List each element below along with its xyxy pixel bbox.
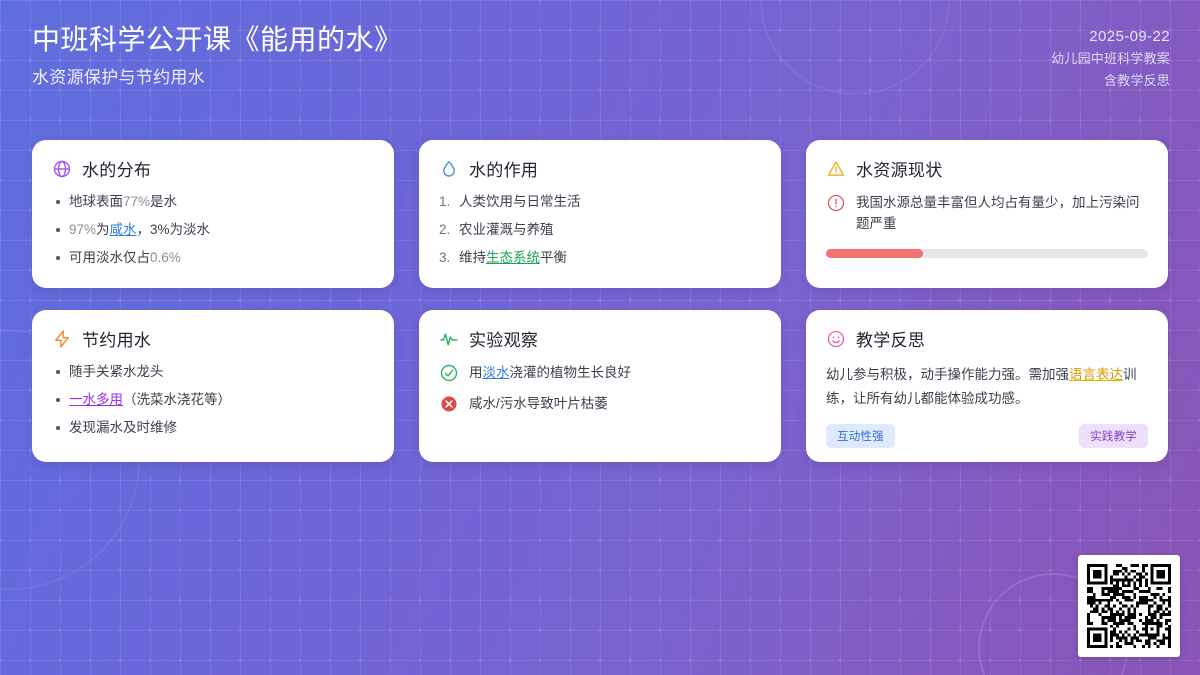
header-meta-line-1: 幼儿园中班科学教案: [1051, 48, 1170, 67]
card-header: 水资源现状: [826, 156, 1148, 181]
item-text: 发现漏水及时维修: [69, 420, 177, 435]
card-teaching-reflection: 教学反思 幼儿参与积极，动手操作能力强。需加强语言表达训练，让所有幼儿都能体验成…: [806, 310, 1168, 462]
experiment-results: 用淡水浇灌的植物生长良好 咸水/污水导致叶片枯萎: [439, 363, 761, 414]
link-freshwater[interactable]: 淡水: [483, 365, 510, 380]
item-number: 77%: [123, 194, 150, 209]
card-title: 水资源现状: [856, 156, 943, 181]
item-text: 维持: [459, 250, 486, 265]
card-grid: 水的分布 地球表面77%是水 97%为咸水，3%为淡水 可用淡水仅占0.6%: [32, 140, 1168, 462]
list-item: 地球表面77%是水: [52, 193, 374, 211]
item-number: 0.6%: [150, 250, 181, 265]
header-meta-block: 2025-09-22 幼儿园中班科学教案 含教学反思: [1051, 24, 1170, 89]
activity-pulse-icon: [439, 329, 459, 349]
x-circle-icon: [439, 394, 459, 414]
reflection-text-before: 幼儿参与积极，动手操作能力强。需加强: [826, 367, 1069, 382]
page-title: 中班科学公开课《能用的水》: [32, 24, 403, 56]
reflection-text: 幼儿参与积极，动手操作能力强。需加强语言表达训练，让所有幼儿都能体验成功感。: [826, 363, 1148, 418]
lightning-bolt-icon: [52, 329, 72, 349]
card-water-function: 水的作用 1.人类饮用与日常生活 2.农业灌溉与养殖 3.维持生态系统平衡: [419, 140, 781, 288]
link-language-expression[interactable]: 语言表达: [1069, 367, 1123, 382]
result-text: 咸水/污水导致叶片枯萎: [469, 395, 608, 413]
card-water-saving: 节约用水 随手关紧水龙头 一水多用（洗菜水浇花等） 发现漏水及时维修: [32, 310, 394, 462]
item-text-tail: 是水: [150, 194, 177, 209]
header-date: 2025-09-22: [1089, 28, 1170, 45]
item-text-tail: ，3%为淡水: [137, 222, 211, 237]
link-multi-use-water[interactable]: 一水多用: [69, 392, 123, 407]
alert-circle-icon: [826, 193, 846, 213]
page-subtitle: 水资源保护与节约用水: [32, 63, 403, 88]
result-row-positive: 用淡水浇灌的植物生长良好: [439, 363, 761, 383]
result-text-before: 用: [469, 365, 483, 380]
qr-code-container[interactable]: [1078, 555, 1180, 657]
card-water-status: 水资源现状 我国水源总量丰富但人均占有量少，加上污染问题严重: [806, 140, 1168, 288]
list-item: 3.维持生态系统平衡: [439, 249, 761, 267]
tag-practice-teaching[interactable]: 实践教学: [1079, 424, 1148, 448]
list-item: 1.人类饮用与日常生活: [439, 193, 761, 211]
card-title: 实验观察: [469, 326, 538, 351]
item-text: 随手关紧水龙头: [69, 364, 164, 379]
item-index: 3.: [439, 249, 450, 267]
item-text: 可用淡水仅占: [69, 250, 150, 265]
list-item: 97%为咸水，3%为淡水: [52, 221, 374, 239]
slide-header: 中班科学公开课《能用的水》 水资源保护与节约用水 2025-09-22 幼儿园中…: [0, 0, 1200, 120]
card-header: 水的分布: [52, 156, 374, 181]
smiley-icon: [826, 329, 846, 349]
link-saltwater[interactable]: 咸水: [110, 222, 137, 237]
item-number: 97%: [69, 222, 96, 237]
reflection-tags: 互动性强 实践教学: [826, 424, 1148, 448]
saving-list: 随手关紧水龙头 一水多用（洗菜水浇花等） 发现漏水及时维修: [52, 363, 374, 438]
card-header: 节约用水: [52, 326, 374, 351]
item-text-tail: （洗菜水浇花等）: [123, 392, 231, 407]
tag-interactivity[interactable]: 互动性强: [826, 424, 895, 448]
item-text-tail: 平衡: [540, 250, 567, 265]
status-alert-text: 我国水源总量丰富但人均占有量少，加上污染问题严重: [856, 193, 1148, 235]
result-text-after: 浇灌的植物生长良好: [510, 365, 632, 380]
slide-canvas: 中班科学公开课《能用的水》 水资源保护与节约用水 2025-09-22 幼儿园中…: [0, 0, 1200, 675]
item-text: 农业灌溉与养殖: [459, 222, 554, 237]
status-progress-fill: [826, 249, 923, 258]
card-header: 实验观察: [439, 326, 761, 351]
item-text: 人类饮用与日常生活: [459, 194, 581, 209]
warning-triangle-icon: [826, 159, 846, 179]
header-title-block: 中班科学公开课《能用的水》 水资源保护与节约用水: [32, 24, 403, 88]
globe-icon: [52, 159, 72, 179]
card-water-distribution: 水的分布 地球表面77%是水 97%为咸水，3%为淡水 可用淡水仅占0.6%: [32, 140, 394, 288]
card-title: 水的作用: [469, 156, 538, 181]
result-row-negative: 咸水/污水导致叶片枯萎: [439, 394, 761, 414]
droplet-icon: [439, 159, 459, 179]
list-item: 2.农业灌溉与养殖: [439, 221, 761, 239]
card-title: 节约用水: [82, 326, 151, 351]
card-header: 教学反思: [826, 326, 1148, 351]
item-text: 为: [96, 222, 110, 237]
function-list: 1.人类饮用与日常生活 2.农业灌溉与养殖 3.维持生态系统平衡: [439, 193, 761, 268]
card-title: 教学反思: [856, 326, 925, 351]
status-progress-track: [826, 249, 1148, 258]
item-index: 1.: [439, 193, 450, 211]
result-text: 用淡水浇灌的植物生长良好: [469, 364, 631, 382]
link-ecosystem[interactable]: 生态系统: [486, 250, 540, 265]
item-text: 地球表面: [69, 194, 123, 209]
check-circle-icon: [439, 363, 459, 383]
status-alert: 我国水源总量丰富但人均占有量少，加上污染问题严重: [826, 193, 1148, 235]
card-experiment-observation: 实验观察 用淡水浇灌的植物生长良好: [419, 310, 781, 462]
list-item: 随手关紧水龙头: [52, 363, 374, 381]
item-index: 2.: [439, 221, 450, 239]
header-meta-line-2: 含教学反思: [1104, 70, 1170, 89]
distribution-list: 地球表面77%是水 97%为咸水，3%为淡水 可用淡水仅占0.6%: [52, 193, 374, 268]
card-header: 水的作用: [439, 156, 761, 181]
card-title: 水的分布: [82, 156, 151, 181]
list-item: 发现漏水及时维修: [52, 419, 374, 437]
qr-code[interactable]: [1087, 564, 1171, 648]
list-item: 可用淡水仅占0.6%: [52, 249, 374, 267]
list-item: 一水多用（洗菜水浇花等）: [52, 391, 374, 409]
